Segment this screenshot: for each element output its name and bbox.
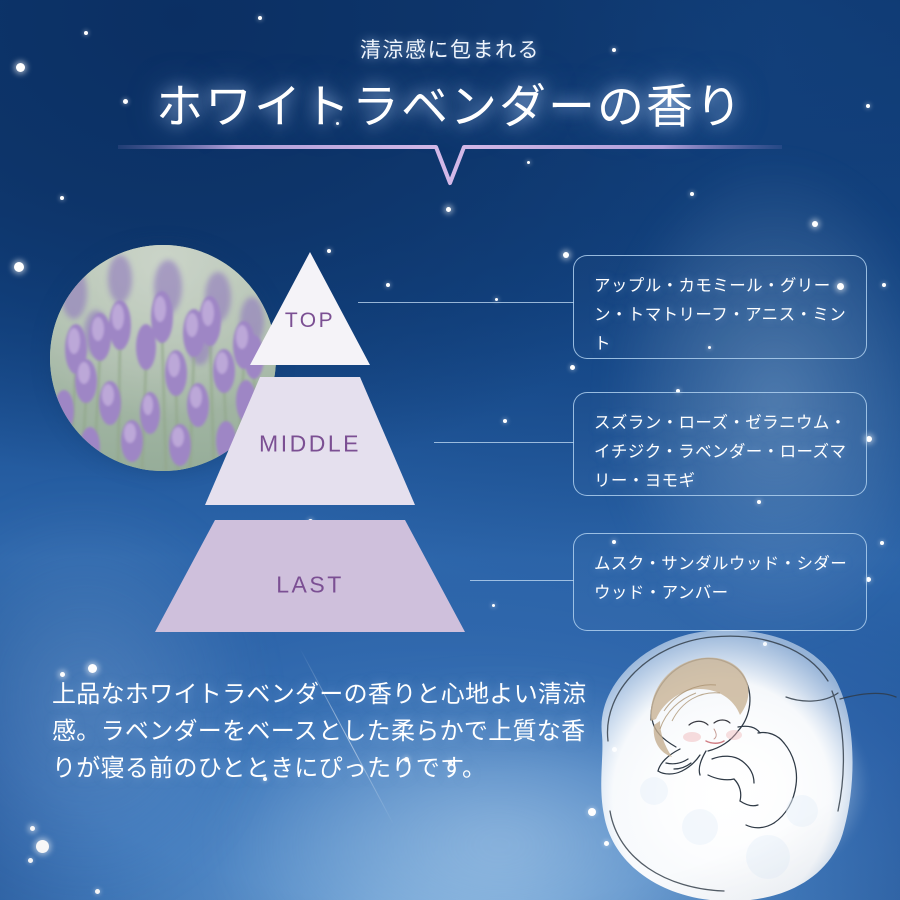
vignette-overlay xyxy=(0,0,900,900)
fragrance-infographic: 清涼感に包まれる ホワイトラベンダーの香り xyxy=(0,0,900,900)
